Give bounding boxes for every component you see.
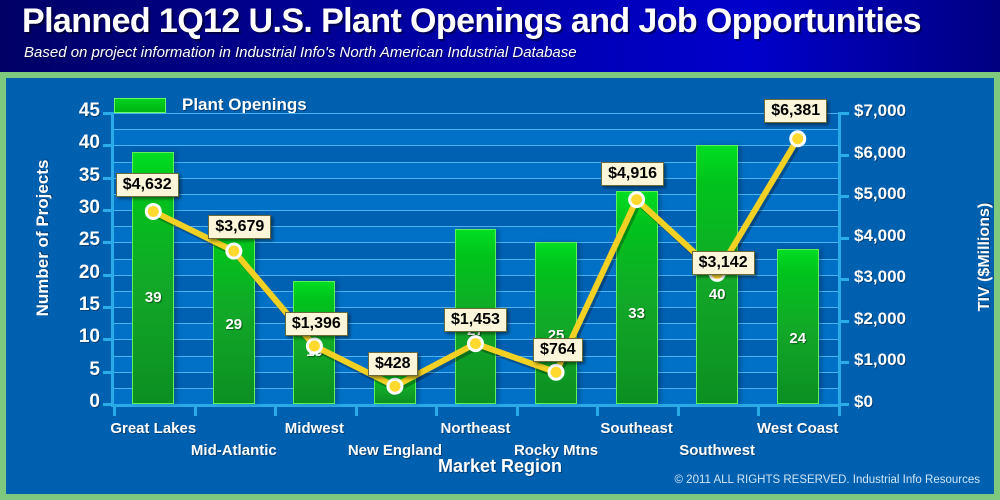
y-axis-tick xyxy=(103,371,111,374)
y2-axis-tick-label: $0 xyxy=(854,392,926,412)
chart-screenshot: Planned 1Q12 U.S. Plant Openings and Job… xyxy=(0,0,1000,500)
line-value-callout: $3,142 xyxy=(692,251,755,275)
x-axis-category-label: New England xyxy=(318,442,471,459)
chart-canvas: Plant Openings New Jobs Number of Projec… xyxy=(6,78,994,494)
line-value-callout: $764 xyxy=(533,338,583,362)
y-axis-tick-label: 30 xyxy=(40,197,100,219)
line-value-callout: $1,396 xyxy=(285,312,348,336)
x-axis-category-label: Southeast xyxy=(560,420,713,437)
line-value-callout: $1,453 xyxy=(444,308,507,332)
x-axis-category-label: Mid-Atlantic xyxy=(157,442,310,459)
legend-label-plant-openings: Plant Openings xyxy=(182,95,307,115)
line-value-callout: $4,632 xyxy=(116,173,179,197)
header-banner: Planned 1Q12 U.S. Plant Openings and Job… xyxy=(0,0,1000,72)
y2-axis-tick xyxy=(841,320,849,323)
y-axis-tick-label: 0 xyxy=(40,391,100,413)
y-axis-tick-label: 5 xyxy=(40,359,100,381)
y-axis-tick xyxy=(103,209,111,212)
y2-axis-tick-label: $2,000 xyxy=(854,309,926,329)
y2-axis-tick xyxy=(841,154,849,157)
y-axis-tick xyxy=(103,403,111,406)
line-marker[interactable] xyxy=(146,204,160,218)
x-axis-tick xyxy=(596,407,599,416)
y-axis-tick xyxy=(103,241,111,244)
x-axis-tick xyxy=(757,407,760,416)
line-marker[interactable] xyxy=(469,337,483,351)
chart-frame: Plant Openings New Jobs Number of Projec… xyxy=(0,72,1000,500)
y-axis-tick xyxy=(103,338,111,341)
y2-axis-tick-label: $1,000 xyxy=(854,350,926,370)
legend-bar-swatch-icon xyxy=(114,98,166,113)
x-axis-category-label: Rocky Mtns xyxy=(480,442,633,459)
copyright-text: © 2011 ALL RIGHTS RESERVED. Industrial I… xyxy=(675,474,980,486)
x-axis-tick xyxy=(677,407,680,416)
y2-axis-tick xyxy=(841,195,849,198)
x-axis-category-label: Northeast xyxy=(399,420,552,437)
x-axis-category-label: West Coast xyxy=(721,420,874,437)
x-axis-tick xyxy=(274,407,277,416)
y-axis-tick-label: 10 xyxy=(40,326,100,348)
line-value-callout: $4,916 xyxy=(601,162,664,186)
y2-axis-tick xyxy=(841,112,849,115)
y2-axis-tick-label: $4,000 xyxy=(854,226,926,246)
y2-axis-tick xyxy=(841,403,849,406)
page-subtitle: Based on project information in Industri… xyxy=(24,44,577,61)
y-axis-tick xyxy=(103,144,111,147)
y-axis-tick-label: 15 xyxy=(40,294,100,316)
line-marker[interactable] xyxy=(630,193,644,207)
x-axis-tick xyxy=(435,407,438,416)
line-marker[interactable] xyxy=(307,339,321,353)
x-axis-line xyxy=(111,404,841,407)
x-axis-tick xyxy=(194,407,197,416)
line-marker[interactable] xyxy=(549,365,563,379)
y-axis-tick-label: 35 xyxy=(40,165,100,187)
y-axis-tick-label: 20 xyxy=(40,262,100,284)
line-marker[interactable] xyxy=(227,244,241,258)
x-axis-tick xyxy=(355,407,358,416)
y2-axis-tick-label: $5,000 xyxy=(854,184,926,204)
x-axis-tick xyxy=(838,407,841,416)
y2-axis-title: TIV ($Millions) xyxy=(976,152,994,362)
line-value-callout: $3,679 xyxy=(208,215,271,239)
x-axis-tick xyxy=(113,407,116,416)
y-axis-tick-label: 25 xyxy=(40,229,100,251)
x-axis-category-label: Southwest xyxy=(641,442,794,459)
y2-axis-tick-label: $6,000 xyxy=(854,143,926,163)
x-axis-category-label: Midwest xyxy=(238,420,391,437)
x-axis-category-label: Great Lakes xyxy=(77,420,230,437)
y-axis-tick xyxy=(103,274,111,277)
y2-axis-tick xyxy=(841,278,849,281)
y2-axis-tick-label: $7,000 xyxy=(854,101,926,121)
x-axis-tick xyxy=(516,407,519,416)
y-axis-tick xyxy=(103,112,111,115)
line-marker[interactable] xyxy=(791,132,805,146)
y2-axis-tick xyxy=(841,361,849,364)
line-value-callout: $428 xyxy=(368,352,418,376)
y2-axis-tick-label: $3,000 xyxy=(854,267,926,287)
y-axis-tick-label: 40 xyxy=(40,132,100,154)
page-title: Planned 1Q12 U.S. Plant Openings and Job… xyxy=(22,2,921,41)
y-axis-tick xyxy=(103,306,111,309)
y-axis-tick xyxy=(103,177,111,180)
line-value-callout: $6,381 xyxy=(764,99,827,123)
y2-axis-tick xyxy=(841,237,849,240)
y-axis-tick-label: 45 xyxy=(40,100,100,122)
line-marker[interactable] xyxy=(388,379,402,393)
